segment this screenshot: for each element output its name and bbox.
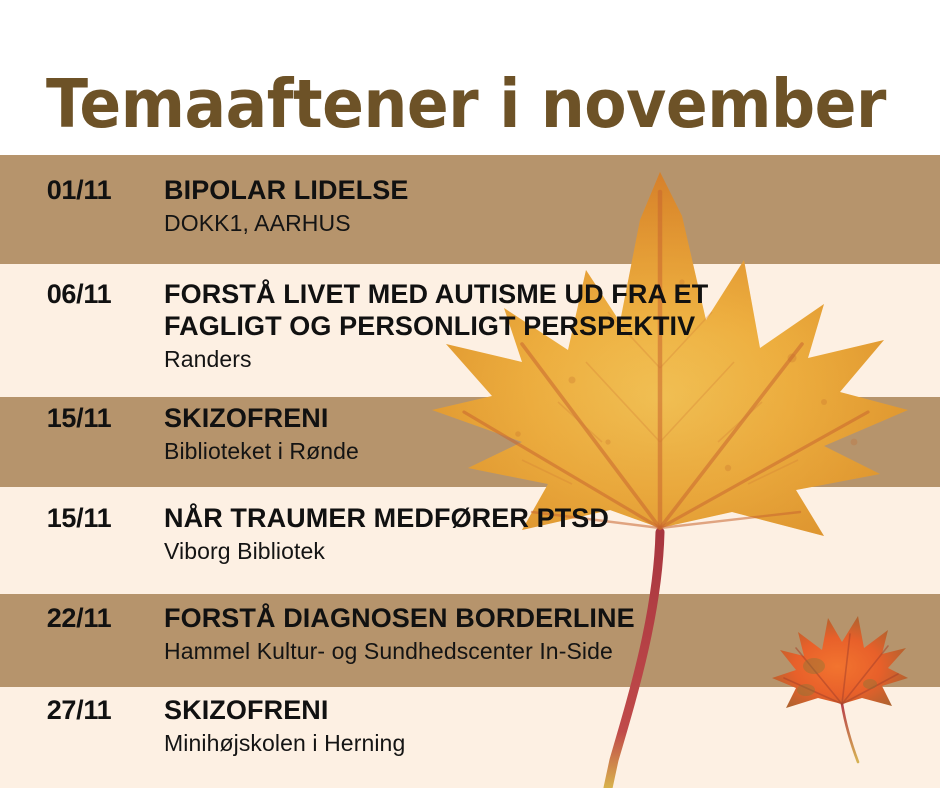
event-venue: Randers: [164, 346, 940, 374]
table-row[interactable]: 22/11FORSTÅ DIAGNOSEN BORDERLINEHammel K…: [0, 603, 940, 665]
table-row[interactable]: 01/11BIPOLAR LIDELSEDOKK1, AARHUS: [0, 175, 940, 237]
event-title: NÅR TRAUMER MEDFØRER PTSD: [164, 503, 940, 535]
event-details: FORSTÅ DIAGNOSEN BORDERLINEHammel Kultur…: [158, 603, 940, 665]
event-date: 22/11: [0, 603, 158, 634]
event-title: SKIZOFRENI: [164, 695, 940, 727]
event-details: NÅR TRAUMER MEDFØRER PTSDViborg Bibliote…: [158, 503, 940, 565]
event-venue: Biblioteket i Rønde: [164, 438, 940, 466]
event-details: BIPOLAR LIDELSEDOKK1, AARHUS: [158, 175, 940, 237]
event-title: FORSTÅ DIAGNOSEN BORDERLINE: [164, 603, 940, 635]
event-details: FORSTÅ LIVET MED AUTISME UD FRA ET FAGLI…: [158, 279, 940, 373]
poster-canvas: Temaaftener i november 01/11BIPOLAR LIDE…: [0, 0, 940, 788]
table-row[interactable]: 15/11SKIZOFRENIBiblioteket i Rønde: [0, 403, 940, 465]
event-title: FORSTÅ LIVET MED AUTISME UD FRA ET FAGLI…: [164, 279, 940, 343]
schedule-list: 01/11BIPOLAR LIDELSEDOKK1, AARHUS06/11FO…: [0, 155, 940, 788]
event-venue: Hammel Kultur- og Sundhedscenter In-Side: [164, 638, 940, 666]
event-title: BIPOLAR LIDELSE: [164, 175, 940, 207]
event-details: SKIZOFRENIBiblioteket i Rønde: [158, 403, 940, 465]
event-details: SKIZOFRENIMinihøjskolen i Herning: [158, 695, 940, 757]
event-venue: Minihøjskolen i Herning: [164, 730, 940, 758]
event-date: 27/11: [0, 695, 158, 726]
poster-header: Temaaftener i november: [0, 0, 940, 155]
event-date: 15/11: [0, 403, 158, 434]
table-row[interactable]: 06/11FORSTÅ LIVET MED AUTISME UD FRA ET …: [0, 279, 940, 373]
table-row[interactable]: 15/11NÅR TRAUMER MEDFØRER PTSDViborg Bib…: [0, 503, 940, 565]
event-date: 01/11: [0, 175, 158, 206]
page-title: Temaaftener i november: [46, 71, 886, 138]
event-title: SKIZOFRENI: [164, 403, 940, 435]
event-venue: Viborg Bibliotek: [164, 538, 940, 566]
event-venue: DOKK1, AARHUS: [164, 210, 940, 238]
table-row[interactable]: 27/11SKIZOFRENIMinihøjskolen i Herning: [0, 695, 940, 757]
event-date: 06/11: [0, 279, 158, 310]
event-date: 15/11: [0, 503, 158, 534]
